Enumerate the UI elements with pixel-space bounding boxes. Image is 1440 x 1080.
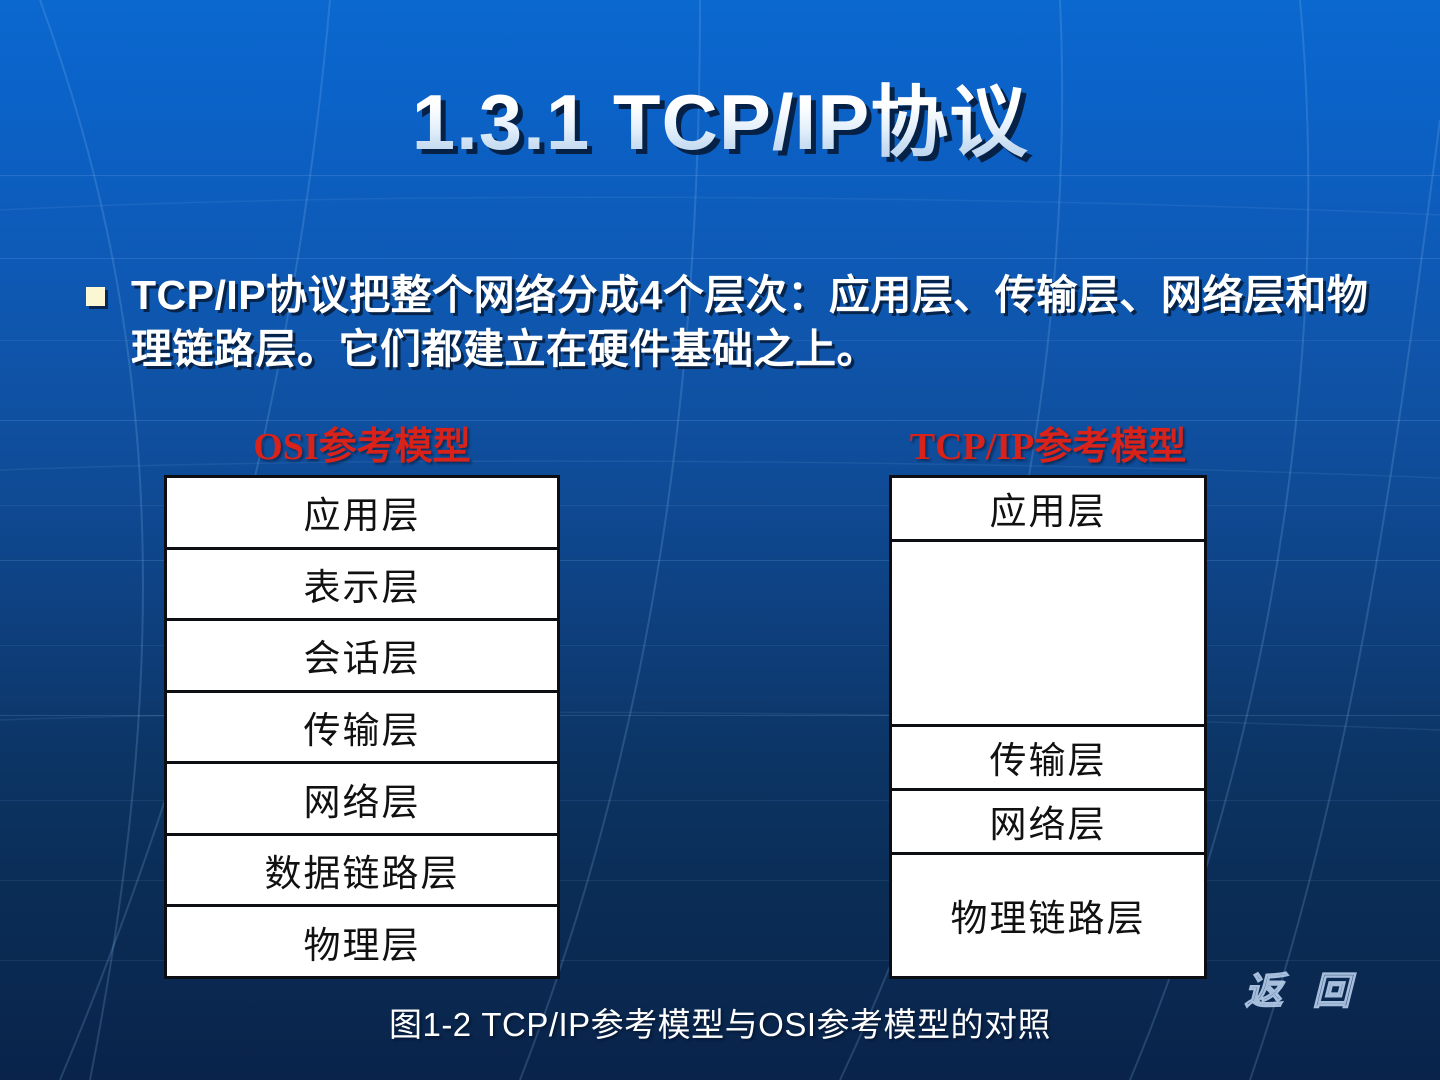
slide-title: 1.3.1 TCP/IP协议 bbox=[0, 82, 1440, 164]
tcpip-layer-label: 网络层 bbox=[990, 794, 1107, 848]
osi-layer-label: 数据链路层 bbox=[265, 843, 460, 897]
tcpip-layer-cell: 应用层 bbox=[892, 478, 1204, 542]
osi-layer-label: 表示层 bbox=[304, 557, 421, 611]
tcpip-model-heading: TCP/IP参考模型 bbox=[889, 415, 1207, 470]
slide-canvas: 1.3.1 TCP/IP协议 TCP/IP协议把整个网络分成4个层次：应用层、传… bbox=[0, 0, 1440, 1080]
return-navigation[interactable]: 返 回 bbox=[1248, 972, 1354, 1010]
tcpip-layer-table: 应用层传输层网络层物理链路层 bbox=[889, 475, 1207, 979]
osi-layer-cell: 表示层 bbox=[167, 550, 557, 622]
tcpip-layer-cell: 传输层 bbox=[892, 727, 1204, 791]
return-back-icon[interactable]: 返 bbox=[1243, 972, 1290, 1010]
tcpip-layer-cell bbox=[892, 542, 1204, 727]
osi-layer-cell: 传输层 bbox=[167, 693, 557, 765]
return-home-icon[interactable]: 回 bbox=[1311, 972, 1358, 1010]
osi-model-heading: OSI参考模型 bbox=[164, 415, 560, 470]
osi-layer-table: 应用层表示层会话层传输层网络层数据链路层物理层 bbox=[164, 475, 560, 979]
osi-layer-label: 网络层 bbox=[304, 772, 421, 826]
tcpip-layer-label: 传输层 bbox=[990, 730, 1107, 784]
tcpip-layer-cell: 网络层 bbox=[892, 791, 1204, 855]
tcpip-layer-label: 应用层 bbox=[990, 481, 1107, 535]
osi-layer-cell: 应用层 bbox=[167, 478, 557, 550]
osi-layer-cell: 数据链路层 bbox=[167, 836, 557, 908]
figure-caption: 图1-2 TCP/IP参考模型与OSI参考模型的对照 bbox=[0, 998, 1440, 1046]
osi-layer-label: 会话层 bbox=[304, 628, 421, 682]
osi-layer-cell: 会话层 bbox=[167, 621, 557, 693]
osi-layer-label: 传输层 bbox=[304, 700, 421, 754]
osi-layer-cell: 网络层 bbox=[167, 764, 557, 836]
osi-layer-label: 物理层 bbox=[304, 915, 421, 969]
osi-layer-cell: 物理层 bbox=[167, 907, 557, 976]
square-bullet-icon bbox=[86, 287, 105, 306]
bullet-text: TCP/IP协议把整个网络分成4个层次：应用层、传输层、网络层和物理链路层。它们… bbox=[131, 268, 1386, 376]
bullet-paragraph: TCP/IP协议把整个网络分成4个层次：应用层、传输层、网络层和物理链路层。它们… bbox=[86, 268, 1386, 376]
tcpip-layer-cell: 物理链路层 bbox=[892, 855, 1204, 977]
osi-layer-label: 应用层 bbox=[304, 485, 421, 539]
tcpip-layer-label: 物理链路层 bbox=[951, 888, 1146, 942]
